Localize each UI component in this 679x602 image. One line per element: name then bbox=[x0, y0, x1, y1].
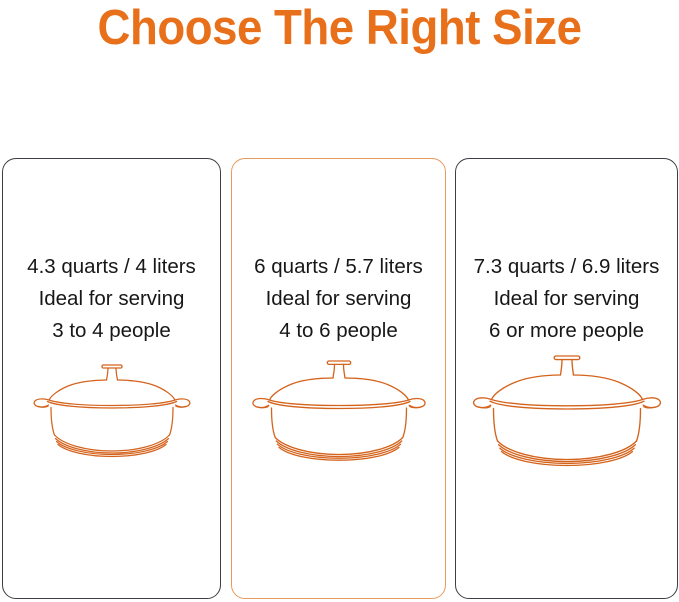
serving-count-line: 6 or more people bbox=[456, 315, 677, 347]
size-option-card-medium[interactable]: 6 quarts / 5.7 liters Ideal for serving … bbox=[231, 158, 446, 599]
capacity-line: 6 quarts / 5.7 liters bbox=[232, 251, 445, 283]
size-description-large: 7.3 quarts / 6.9 liters Ideal for servin… bbox=[456, 251, 677, 347]
serving-count-line: 4 to 6 people bbox=[232, 315, 445, 347]
pot-illustration-small bbox=[3, 355, 220, 459]
size-option-card-small[interactable]: 4.3 quarts / 4 liters Ideal for serving … bbox=[2, 158, 221, 599]
serving-count-line: 3 to 4 people bbox=[3, 315, 220, 347]
dutch-oven-pot-icon bbox=[23, 355, 201, 459]
card-content: 7.3 quarts / 6.9 liters Ideal for servin… bbox=[456, 159, 677, 598]
size-description-medium: 6 quarts / 5.7 liters Ideal for serving … bbox=[232, 251, 445, 347]
dutch-oven-pot-icon bbox=[465, 346, 669, 468]
serving-label-line: Ideal for serving bbox=[232, 283, 445, 315]
capacity-line: 7.3 quarts / 6.9 liters bbox=[456, 251, 677, 283]
serving-label-line: Ideal for serving bbox=[456, 283, 677, 315]
size-description-small: 4.3 quarts / 4 liters Ideal for serving … bbox=[3, 251, 220, 347]
serving-label-line: Ideal for serving bbox=[3, 283, 220, 315]
pot-illustration-large bbox=[456, 346, 677, 468]
size-option-card-large[interactable]: 7.3 quarts / 6.9 liters Ideal for servin… bbox=[455, 158, 678, 599]
card-content: 4.3 quarts / 4 liters Ideal for serving … bbox=[3, 159, 220, 598]
dutch-oven-pot-icon bbox=[243, 351, 435, 463]
page-title: Choose The Right Size bbox=[24, 0, 655, 56]
pot-illustration-medium bbox=[232, 351, 445, 463]
size-options-row: 4.3 quarts / 4 liters Ideal for serving … bbox=[0, 158, 679, 602]
capacity-line: 4.3 quarts / 4 liters bbox=[3, 251, 220, 283]
card-content: 6 quarts / 5.7 liters Ideal for serving … bbox=[232, 159, 445, 598]
